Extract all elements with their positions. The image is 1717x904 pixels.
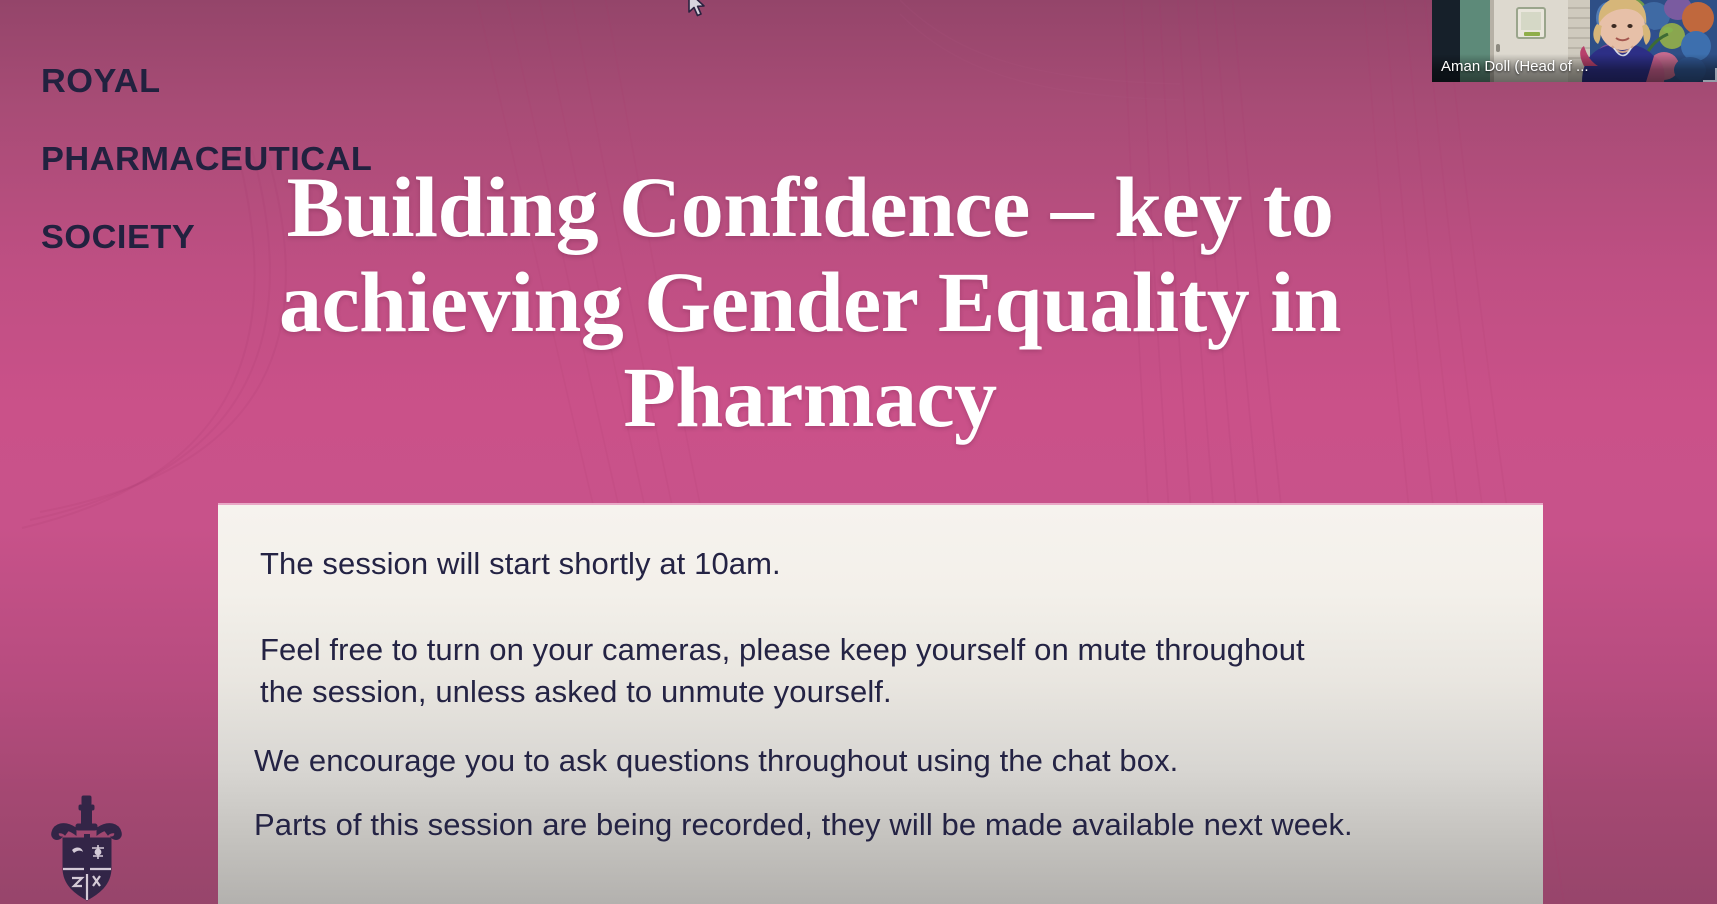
- camera-mute-line: Feel free to turn on your cameras, pleas…: [260, 629, 1320, 713]
- tile-resize-handle-icon[interactable]: [1703, 68, 1717, 82]
- wordmark-line-1: ROYAL: [41, 61, 372, 100]
- recording-line: Parts of this session are being recorded…: [254, 804, 1514, 846]
- participant-name-label: Aman Doll (Head of ...: [1432, 54, 1717, 82]
- chat-box-line: We encourage you to ask questions throug…: [254, 740, 1514, 782]
- session-start-line: The session will start shortly at 10am.: [260, 543, 1320, 585]
- presentation-slide: ROYAL PHARMACEUTICAL SOCIETY: [0, 0, 1717, 904]
- slide-title: Building Confidence – key to achieving G…: [110, 160, 1510, 445]
- participant-video-tile[interactable]: Aman Doll (Head of ...: [1432, 0, 1717, 82]
- rps-crest-icon: [38, 790, 136, 904]
- mouse-cursor-arrow-icon: [686, 0, 708, 21]
- session-info-card: The session will start shortly at 10am. …: [218, 503, 1543, 904]
